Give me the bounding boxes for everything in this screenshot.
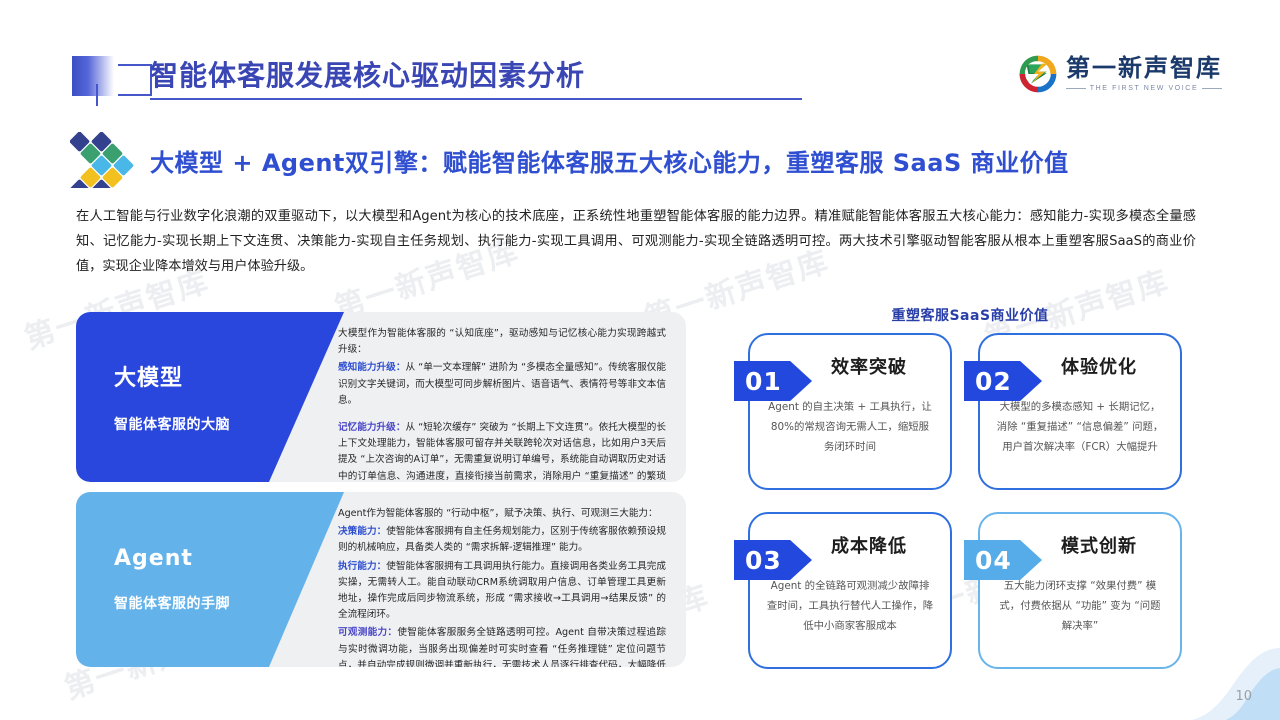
panel-block: 感知能力升级：从 “单一文本理解” 进阶为 “多模态全量感知”。传统客服仅能识别… bbox=[338, 360, 666, 409]
value-card-01: 01 效率突破 Agent 的自主决策 + 工具执行，让80%的常规咨询无需人工… bbox=[748, 333, 952, 490]
panel-block-text: 使智能体客服拥有自主任务规划能力，区别于传统客服依赖预设规则的机械响应，具备类人… bbox=[338, 526, 666, 553]
value-card-title: 体验优化 bbox=[980, 353, 1180, 379]
header-rule bbox=[150, 98, 802, 100]
panel-tag-subtitle: 智能体客服的手脚 bbox=[114, 593, 344, 613]
panel-tag-subtitle: 智能体客服的大脑 bbox=[114, 414, 344, 434]
value-card-text: 大模型的多模态感知 + 长期记忆，消除 “重复描述” “信息偏差” 问题，用户首… bbox=[980, 397, 1180, 457]
panel-body-agent: Agent作为智能体客服的 “行动中枢”，赋予决策、执行、可观测三大能力： 决策… bbox=[324, 492, 676, 667]
value-card-title: 效率突破 bbox=[750, 353, 950, 379]
logo-text-en: THE FIRST NEW VOICE bbox=[1090, 85, 1198, 92]
panel-block: 执行能力：使智能体客服拥有工具调用执行能力。直接调用各类业务工具完成实操，无需转… bbox=[338, 559, 666, 624]
page-number: 10 bbox=[1235, 689, 1252, 704]
brand-logo: 第一新声智库 THE FIRST NEW VOICE bbox=[1018, 50, 1222, 98]
page-title: 智能体客服发展核心驱动因素分析 bbox=[150, 54, 585, 94]
panel-tag-large-model: 大模型 智能体客服的大脑 bbox=[76, 312, 344, 482]
panel-block-key: 感知能力升级： bbox=[338, 362, 405, 373]
panel-block-key: 执行能力： bbox=[338, 561, 386, 572]
globe-icon bbox=[1018, 54, 1058, 94]
section-subtitle: 大模型 + Agent双引擎：赋能智能体客服五大核心能力，重塑客服 SaaS 商… bbox=[150, 143, 1069, 178]
value-section-title: 重塑客服SaaS商业价值 bbox=[745, 305, 1195, 325]
value-card-text: Agent 的自主决策 + 工具执行，让80%的常规咨询无需人工，缩短服务闭环时… bbox=[750, 397, 950, 457]
panel-body-large-model: 大模型作为智能体客服的 “认知底座”，驱动感知与记忆核心能力实现跨越式升级： 感… bbox=[324, 312, 676, 482]
panel-block: 可观测能力：使智能体客服服务全链路透明可控。Agent 自带决策过程追踪与实时微… bbox=[338, 625, 666, 667]
value-card-03: 03 成本降低 Agent 的全链路可观测减少故障排查时间，工具执行替代人工操作… bbox=[748, 512, 952, 669]
panel-block-key: 记忆能力升级： bbox=[338, 422, 405, 433]
panel-tag-agent: Agent 智能体客服的手脚 bbox=[76, 492, 344, 667]
value-card-02: 02 体验优化 大模型的多模态感知 + 长期记忆，消除 “重复描述” “信息偏差… bbox=[978, 333, 1182, 490]
panel-block-text: 使智能体客服拥有工具调用执行能力。直接调用各类业务工具完成实操，无需转人工。能自… bbox=[338, 561, 666, 621]
diamond-grid-icon bbox=[70, 132, 136, 188]
logo-text-cn: 第一新声智库 bbox=[1066, 56, 1222, 81]
panel-block: 决策能力：使智能体客服拥有自主任务规划能力，区别于传统客服依赖预设规则的机械响应… bbox=[338, 524, 666, 556]
panel-block-key: 可观测能力： bbox=[338, 627, 397, 638]
panel-lead: Agent作为智能体客服的 “行动中枢”，赋予决策、执行、可观测三大能力： bbox=[338, 506, 666, 522]
value-card-text: Agent 的全链路可观测减少故障排查时间，工具执行替代人工操作，降低中小商家客… bbox=[750, 576, 950, 636]
value-card-text: 五大能力闭环支撑 “效果付费” 模式，付费依据从 “功能” 变为 “问题解决率” bbox=[980, 576, 1180, 636]
value-card-title: 模式创新 bbox=[980, 532, 1180, 558]
panel-block: 记忆能力升级：从 “短轮次缓存” 突破为 “长期上下文连贯”。依托大模型的长上下… bbox=[338, 420, 666, 482]
section-subtitle-row: 大模型 + Agent双引擎：赋能智能体客服五大核心能力，重塑客服 SaaS 商… bbox=[70, 132, 1069, 188]
panel-tag-title: Agent bbox=[114, 546, 344, 571]
panel-tag-title: 大模型 bbox=[114, 360, 344, 392]
panel-large-model: 大模型 智能体客服的大脑 大模型作为智能体客服的 “认知底座”，驱动感知与记忆核… bbox=[76, 312, 686, 482]
panel-agent: Agent 智能体客服的手脚 Agent作为智能体客服的 “行动中枢”，赋予决策… bbox=[76, 492, 686, 667]
value-card-04: 04 模式创新 五大能力闭环支撑 “效果付费” 模式，付费依据从 “功能” 变为… bbox=[978, 512, 1182, 669]
intro-paragraph: 在人工智能与行业数字化浪潮的双重驱动下，以大模型和Agent为核心的技术底座，正… bbox=[76, 204, 1196, 279]
corner-decoration bbox=[1172, 642, 1280, 720]
header-square-icon bbox=[72, 56, 142, 104]
panel-lead: 大模型作为智能体客服的 “认知底座”，驱动感知与记忆核心能力实现跨越式升级： bbox=[338, 326, 666, 358]
panel-block-key: 决策能力： bbox=[338, 526, 386, 537]
slide-header: 智能体客服发展核心驱动因素分析 第一新声智库 THE FIRST NEW VOI… bbox=[0, 0, 1280, 120]
value-card-title: 成本降低 bbox=[750, 532, 950, 558]
